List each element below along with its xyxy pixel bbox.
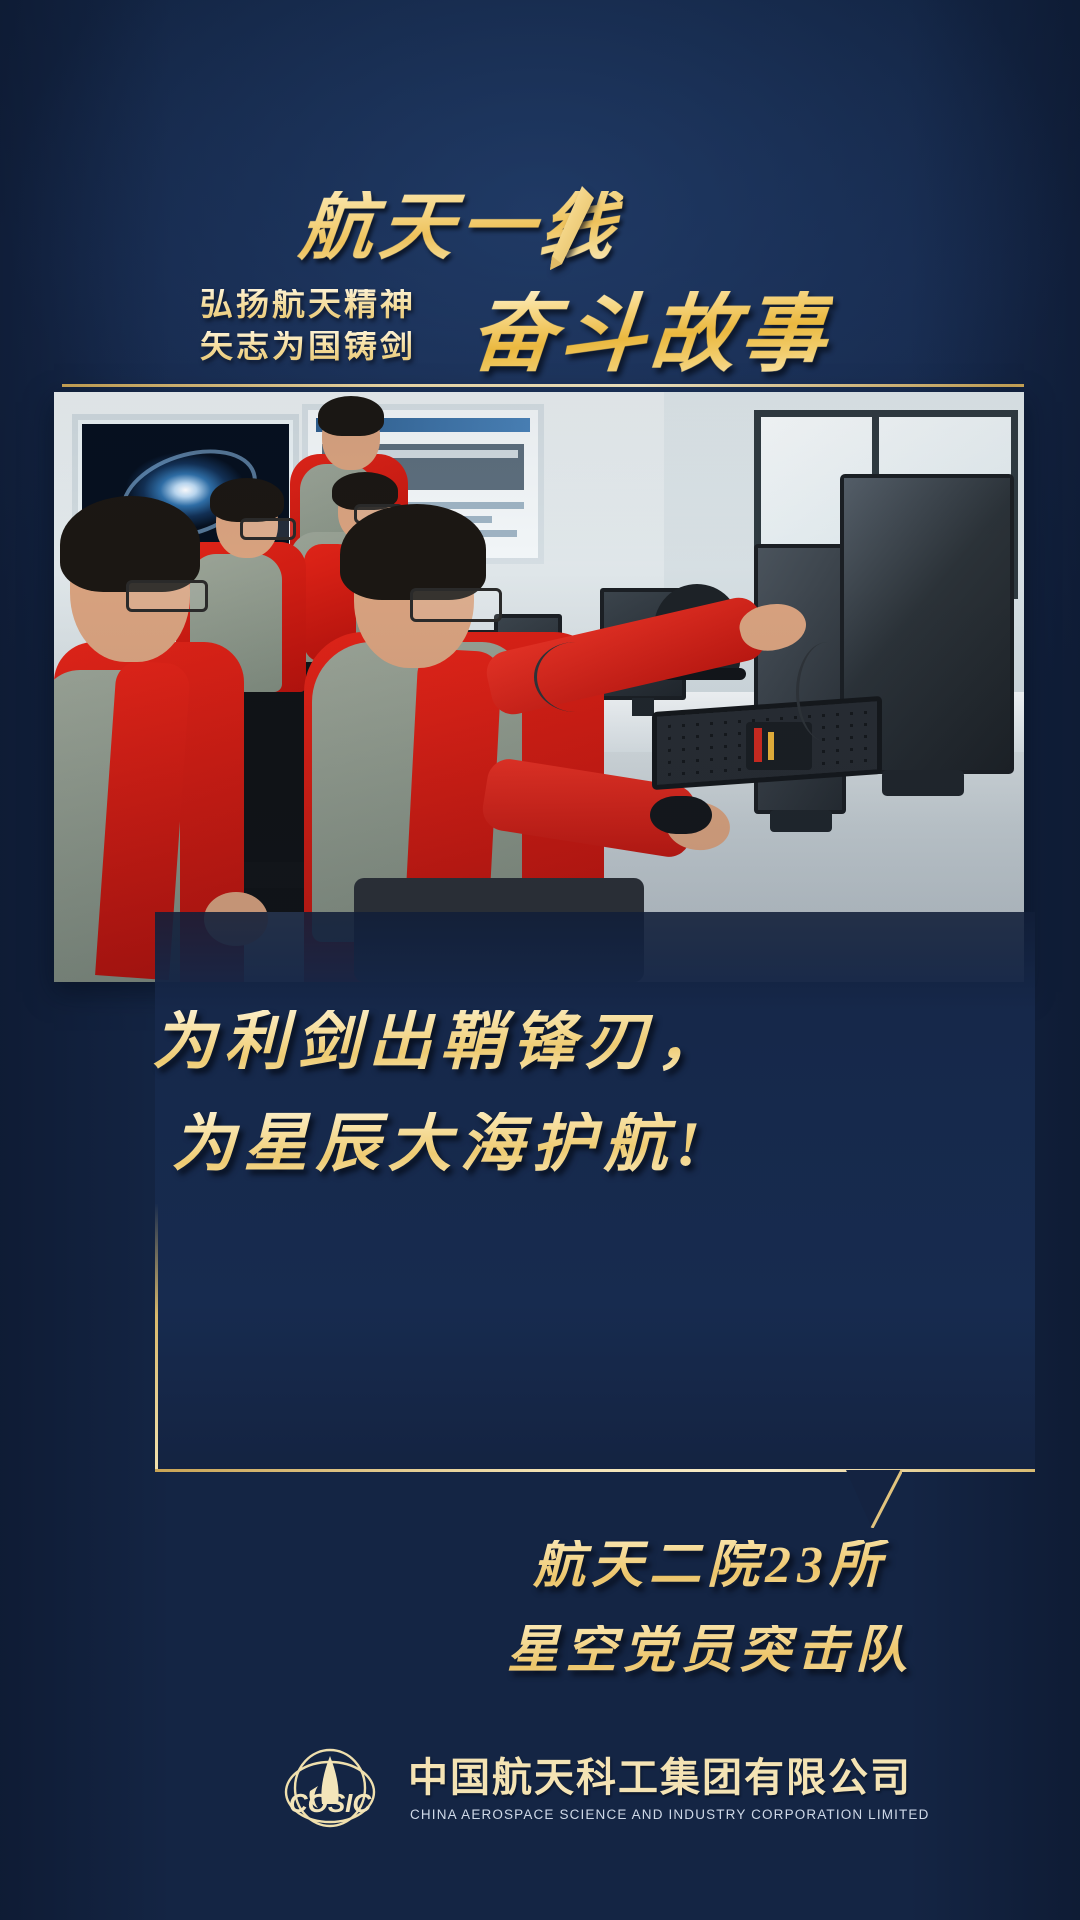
device-indicator <box>768 732 774 760</box>
cosic-wordmark: COSIC <box>289 1788 373 1818</box>
title-line-2: 奋斗故事 <box>466 291 834 377</box>
cable <box>534 642 617 712</box>
monitor-stand <box>632 698 654 716</box>
quote-panel-left-edge <box>155 912 158 1472</box>
mouse <box>650 796 712 834</box>
quote-panel <box>155 912 1035 1472</box>
cosic-logo-icon: COSIC <box>280 1746 380 1838</box>
attribution-line-2: 星空党员突击队 <box>0 1625 1080 1677</box>
subtitle-line-1: 弘扬航天精神 <box>200 289 416 322</box>
quote-line-2: 为星辰大海护航! <box>0 1112 880 1176</box>
poster-header: 航天一线 奋斗故事 弘扬航天精神 矢志为国铸剑 <box>0 86 1080 346</box>
subtitle-line-2: 矢志为国铸剑 <box>200 331 416 364</box>
quote-line-1: 为利剑出鞘锋刃， <box>0 1010 880 1074</box>
brand-name-cn: 中国航天科工集团有限公司 <box>408 1758 912 1798</box>
brand-name-en: CHINA AEROSPACE SCIENCE AND INDUSTRY COR… <box>410 1808 929 1822</box>
quote-panel-bottom-edge <box>155 1469 1035 1472</box>
photo-top-rule <box>62 384 1024 387</box>
hero-photo <box>54 392 1024 982</box>
device-indicator <box>754 728 762 762</box>
poster-footer: COSIC 中国航天科工集团有限公司 CHINA AEROSPACE SCIEN… <box>0 1740 1080 1850</box>
attribution-line-1: 航天二院23所 <box>0 1540 1080 1592</box>
cable <box>796 642 859 742</box>
monitor-stand <box>770 810 832 832</box>
monitor-stand <box>882 770 964 796</box>
speech-bubble-tail <box>846 1470 902 1528</box>
poster-root: 航天一线 奋斗故事 弘扬航天精神 矢志为国铸剑 <box>0 0 1080 1920</box>
rocket-icon <box>538 184 598 276</box>
